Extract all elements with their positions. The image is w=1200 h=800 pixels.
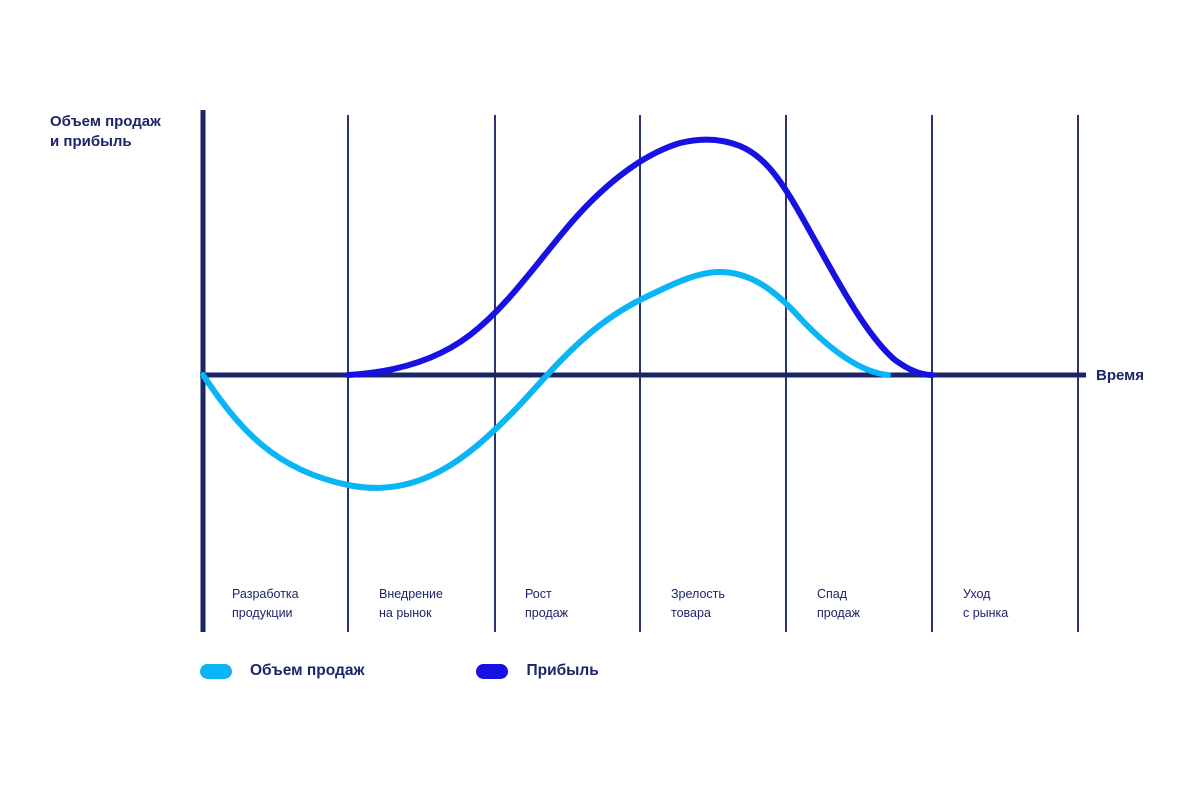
stage-label-sales-growth: Рост продаж xyxy=(525,585,655,623)
x-axis-title: Время xyxy=(1096,366,1144,386)
legend-swatch-sales-volume-icon xyxy=(200,664,232,679)
stage-label-maturity: Зрелость товара xyxy=(671,585,801,623)
stage-label-market-exit: Уход с рынка xyxy=(963,585,1093,623)
y-axis-title: Объем продаж и прибыль xyxy=(50,112,200,152)
stage-label-market-introduction: Внедрение на рынок xyxy=(379,585,509,623)
chart-legend: Объем продаж Прибыль xyxy=(200,662,599,680)
stage-label-decline: Спад продаж xyxy=(817,585,947,623)
legend-swatch-profit-icon xyxy=(476,664,508,679)
legend-item-sales-volume[interactable]: Объем продаж xyxy=(200,662,364,680)
legend-label-sales-volume: Объем продаж xyxy=(250,662,364,680)
legend-label-profit: Прибыль xyxy=(526,662,598,680)
stage-label-development: Разработка продукции xyxy=(232,585,362,623)
legend-item-profit[interactable]: Прибыль xyxy=(476,662,598,680)
product-life-cycle-chart: Объем продаж и прибыль Время Разработка … xyxy=(0,0,1200,800)
